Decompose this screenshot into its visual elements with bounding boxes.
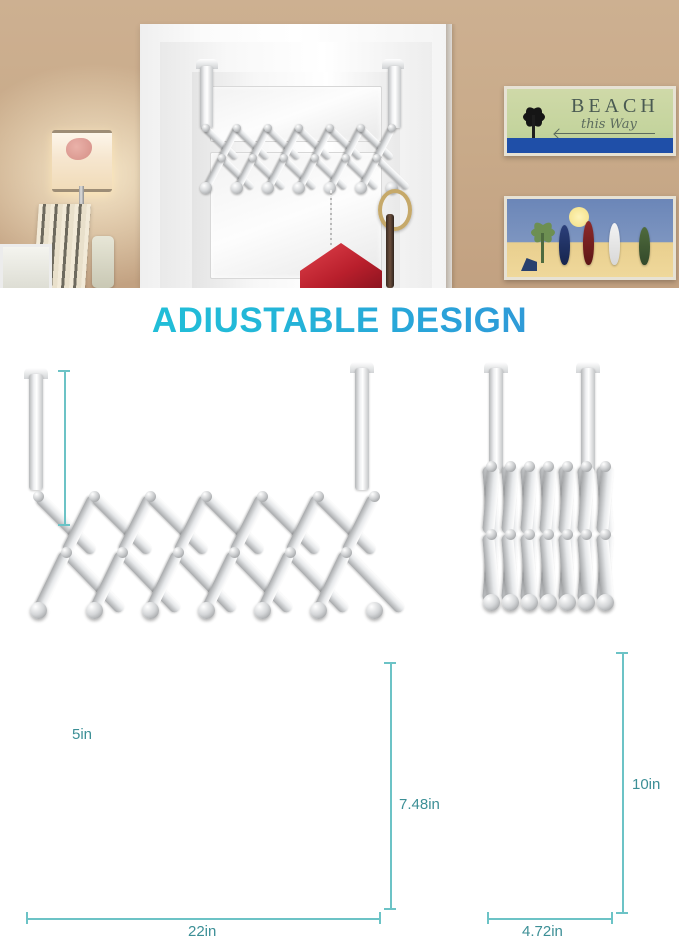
- product-infographic: BEACH this Way ADIUSTABLE DESIGN: [0, 0, 679, 667]
- dimension-cap: [616, 912, 628, 914]
- accordion-lattice: [196, 118, 406, 196]
- spec-section: ADIUSTABLE DESIGN 5in 7.48in 22in: [0, 288, 679, 667]
- surfboard: [583, 221, 594, 265]
- hook-knob: [142, 602, 159, 619]
- lattice-pivot: [581, 529, 592, 540]
- palm-trunk: [541, 233, 544, 263]
- dimension-cap: [384, 662, 396, 664]
- lattice-pivot: [117, 547, 128, 558]
- lattice-pivot: [218, 154, 226, 162]
- hanger-arm: [29, 374, 43, 490]
- lattice-pivot: [600, 461, 611, 472]
- hook-knob: [293, 182, 305, 194]
- lattice-pivot: [280, 154, 288, 162]
- lattice-pivot: [295, 124, 303, 132]
- hook-knob: [200, 182, 212, 194]
- dimension-label-22in: 22in: [185, 922, 219, 941]
- hook-knob: [86, 602, 103, 619]
- expanded-state-diagram: [8, 362, 398, 632]
- lattice-pivot: [543, 461, 554, 472]
- lattice-pivot: [33, 491, 44, 502]
- lattice-pivot: [373, 154, 381, 162]
- hook-knob: [540, 594, 557, 611]
- lattice-pivot: [61, 547, 72, 558]
- hook-knob: [366, 602, 383, 619]
- picture-frame: [0, 244, 52, 288]
- lattice-pivot: [341, 547, 352, 558]
- beach-sign-title: BEACH: [571, 95, 659, 118]
- hook-knob: [578, 594, 595, 611]
- lattice-pivot: [313, 491, 324, 502]
- dimension-label-748in: 7.48in: [396, 795, 443, 814]
- dimension-label-10in: 10in: [629, 775, 663, 794]
- compressed-state-diagram: [470, 362, 640, 632]
- lattice-pivot: [486, 529, 497, 540]
- hook-knob: [30, 602, 47, 619]
- lattice-pivot: [543, 529, 554, 540]
- hook-knob: [521, 594, 538, 611]
- lattice-pivot: [581, 461, 592, 472]
- dimension-cap: [384, 908, 396, 910]
- lattice-pivot: [145, 491, 156, 502]
- lattice-pivot: [264, 124, 272, 132]
- lattice-pivot: [249, 154, 257, 162]
- lattice-pivot: [311, 154, 319, 162]
- surfboard: [609, 223, 620, 265]
- lattice-pivot: [202, 124, 210, 132]
- dimension-label-5in: 5in: [69, 725, 95, 744]
- bag-chain: [330, 190, 332, 246]
- sea-band: [507, 138, 673, 153]
- section-title: ADIUSTABLE DESIGN: [0, 301, 679, 341]
- lattice-pivot: [562, 529, 573, 540]
- lattice-pivot: [257, 491, 268, 502]
- hook-knob: [231, 182, 243, 194]
- hook-knob: [198, 602, 215, 619]
- dimension-cap: [58, 370, 70, 372]
- hook-knob: [502, 594, 519, 611]
- dimension-line-compressed-width: [487, 918, 613, 920]
- dimension-line-width: [26, 918, 381, 920]
- hook-knob: [483, 594, 500, 611]
- lattice-pivot: [505, 461, 516, 472]
- lattice-pivot: [342, 154, 350, 162]
- gold-ring: [378, 189, 412, 231]
- lattice-pivot: [173, 547, 184, 558]
- dimension-line-compressed-height: [622, 652, 624, 914]
- hanger-arm: [581, 368, 595, 472]
- lattice-pivot: [326, 124, 334, 132]
- dimension-cap: [487, 912, 489, 924]
- mounted-hook-rack: [196, 66, 406, 196]
- surfboard: [639, 227, 650, 265]
- hook-knob: [254, 602, 271, 619]
- lattice-pivot: [562, 461, 573, 472]
- dimension-line-total-height: [390, 662, 392, 910]
- palm-tree-icon: [529, 223, 559, 263]
- surfboard-artwork: [504, 196, 676, 280]
- lattice-pivot: [357, 124, 365, 132]
- hook-knob: [597, 594, 614, 611]
- dimension-cap: [616, 652, 628, 654]
- beach-sign-script: this Way: [581, 117, 637, 132]
- lattice-pivot: [229, 547, 240, 558]
- surfboard: [559, 225, 570, 265]
- lattice-pivot: [388, 124, 396, 132]
- door-shadow: [446, 24, 456, 288]
- dimension-cap: [611, 912, 613, 924]
- lattice-pivot: [486, 461, 497, 472]
- dimension-cap: [379, 912, 381, 924]
- hook-knob: [310, 602, 327, 619]
- lattice-pivot: [201, 491, 212, 502]
- hook-knob: [262, 182, 274, 194]
- dimension-label-472in: 4.72in: [519, 922, 566, 941]
- hanger-arm: [355, 368, 369, 490]
- hook-knob: [355, 182, 367, 194]
- lattice-pivot: [600, 529, 611, 540]
- cordless-phone: [92, 236, 114, 288]
- left-arrow-icon: [555, 133, 655, 134]
- beach-sign-artwork: BEACH this Way: [504, 86, 676, 156]
- umbrella: [386, 214, 394, 288]
- lattice-pivot: [233, 124, 241, 132]
- lattice-pivot: [285, 547, 296, 558]
- lattice-pivot: [89, 491, 100, 502]
- lattice-pivot: [505, 529, 516, 540]
- lattice-pivot: [524, 529, 535, 540]
- hanger-arm: [489, 368, 503, 472]
- lattice-pivot: [524, 461, 535, 472]
- dimension-cap: [58, 524, 70, 526]
- lattice-pivot: [369, 491, 380, 502]
- lifestyle-photo: BEACH this Way: [0, 0, 679, 288]
- dimension-cap: [26, 912, 28, 924]
- hook-knob: [559, 594, 576, 611]
- dimension-line-hanger-height: [64, 370, 66, 526]
